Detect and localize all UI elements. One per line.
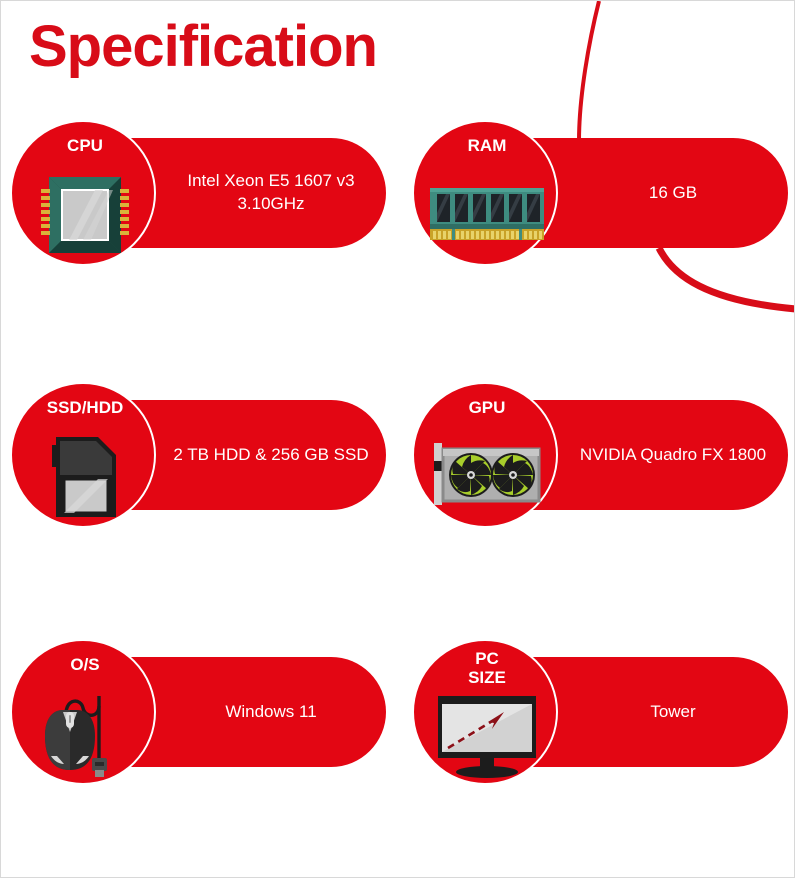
spec-card-pc-size[interactable]: Tower PC SIZE: [426, 657, 788, 767]
spec-card-cpu[interactable]: Intel Xeon E5 1607 v3 3.10GHz: [24, 138, 386, 248]
spec-badge-label-gpu: GPU: [414, 398, 560, 417]
spec-badge-ram: RAM: [412, 120, 558, 266]
spec-badge-pc-size: PC SIZE: [412, 639, 558, 785]
spec-badge-label-os: O/S: [12, 655, 158, 674]
spec-badge-label-pc-size: PC SIZE: [414, 649, 560, 687]
spec-value-ram: 16 GB: [568, 138, 778, 248]
spec-card-gpu[interactable]: NVIDIA Quadro FX 1800: [426, 400, 788, 510]
spec-card-os[interactable]: Windows 11 O/S: [24, 657, 386, 767]
spec-value-pc-size: Tower: [568, 657, 778, 767]
spec-card-storage[interactable]: 2 TB HDD & 256 GB SSD SSD/HDD: [24, 400, 386, 510]
spec-badge-label-ram: RAM: [414, 136, 560, 155]
specification-page: Specification Intel Xeon E5 1607 v3 3.10…: [0, 0, 795, 878]
spec-badge-cpu: CPU: [10, 120, 156, 266]
spec-badge-os: O/S: [10, 639, 156, 785]
spec-value-cpu: Intel Xeon E5 1607 v3 3.10GHz: [166, 138, 376, 248]
spec-card-ram[interactable]: 16 GB: [426, 138, 788, 248]
spec-value-os: Windows 11: [166, 657, 376, 767]
spec-badge-gpu: GPU: [412, 382, 558, 528]
spec-value-gpu: NVIDIA Quadro FX 1800: [568, 400, 778, 510]
spec-badge-storage: SSD/HDD: [10, 382, 156, 528]
spec-badge-label-storage: SSD/HDD: [12, 398, 158, 417]
spec-badge-label-cpu: CPU: [12, 136, 158, 155]
page-title: Specification: [29, 15, 377, 79]
spec-value-storage: 2 TB HDD & 256 GB SSD: [166, 400, 376, 510]
